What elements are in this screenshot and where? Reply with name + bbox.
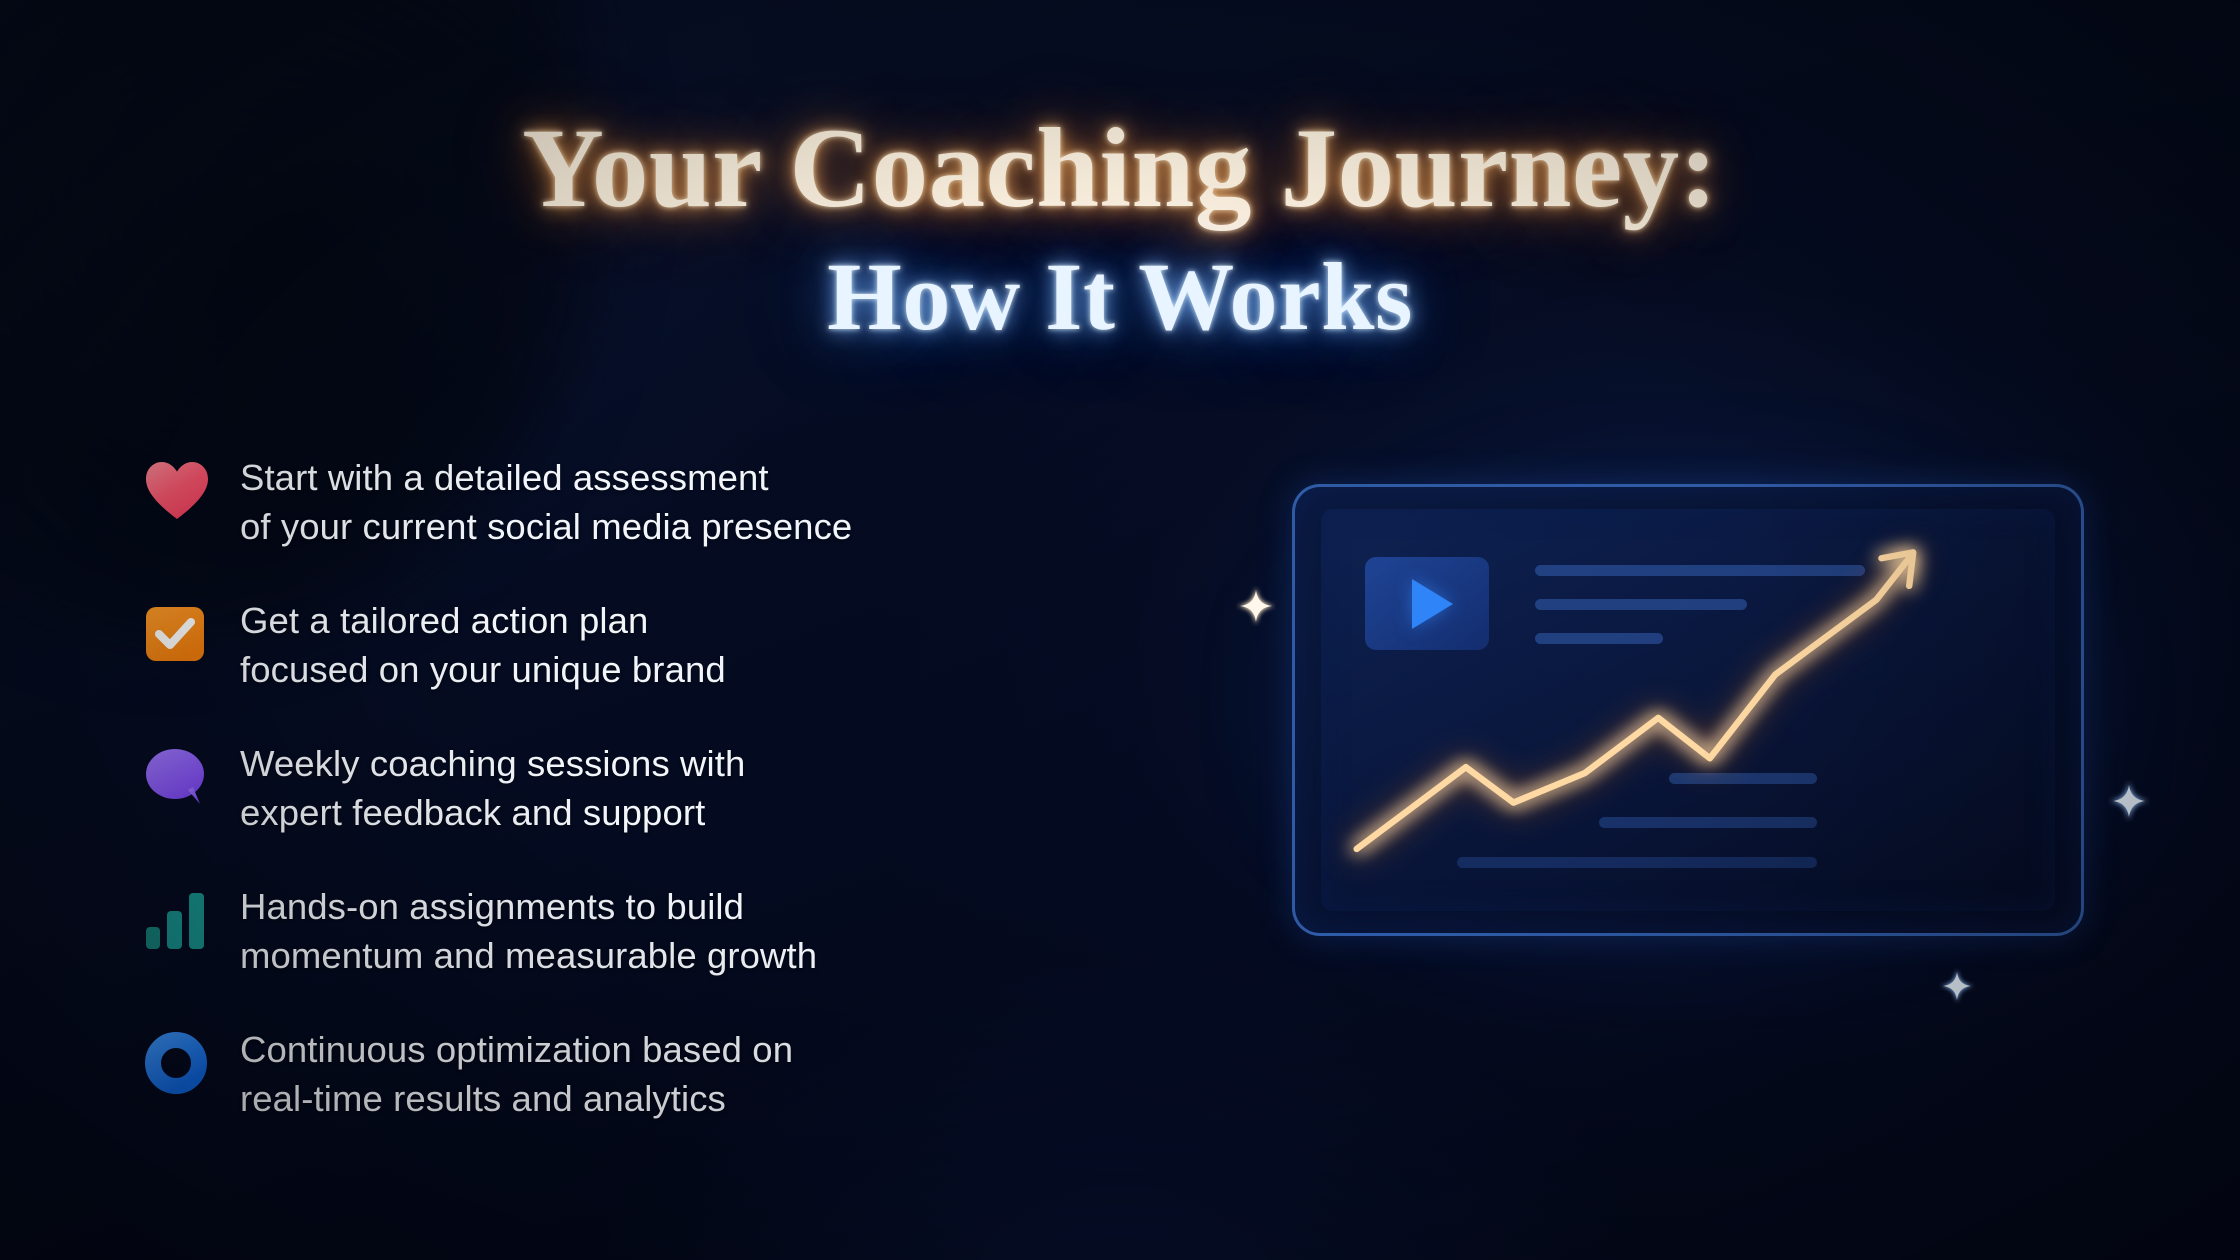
tablet-growth-chart-illustration (1292, 484, 2084, 936)
list-item[interactable]: Weekly coaching sessions with expert fee… (144, 738, 1164, 837)
list-item[interactable]: Continuous optimization based on real-ti… (144, 1024, 1164, 1123)
heart-icon (144, 452, 240, 528)
sparkle-blue-bottom (1939, 968, 1975, 1009)
bar-chart-icon (144, 881, 240, 957)
sparkle-warm-left (1236, 586, 1276, 631)
tablet-screen (1321, 509, 2055, 911)
list-item-line: Hands-on assignments to build (240, 883, 817, 932)
list-item-text: Start with a detailed assessment of your… (240, 452, 852, 551)
list-item-text: Continuous optimization based on real-ti… (240, 1024, 793, 1123)
speech-bubble-icon (144, 738, 240, 814)
list-item-text: Weekly coaching sessions with expert fee… (240, 738, 745, 837)
list-item-line: momentum and measurable growth (240, 932, 817, 981)
title-line-1: Your Coaching Journey: (0, 112, 2240, 225)
slide-canvas: Your Coaching Journey: How It Works (0, 0, 2240, 1260)
feature-list: Start with a detailed assessment of your… (144, 452, 1164, 1123)
list-item-line: Start with a detailed assessment (240, 454, 852, 503)
list-item-text: Get a tailored action plan focused on yo… (240, 595, 726, 694)
list-item-line: Weekly coaching sessions with (240, 740, 745, 789)
list-item-line: focused on your unique brand (240, 646, 726, 695)
tablet-frame (1292, 484, 2084, 936)
ring-icon (144, 1024, 240, 1100)
list-item-line: expert feedback and support (240, 789, 745, 838)
checkbox-checked-icon (144, 595, 240, 671)
list-item-text: Hands-on assignments to build momentum a… (240, 881, 817, 980)
list-item-line: Continuous optimization based on (240, 1026, 793, 1075)
list-item[interactable]: Get a tailored action plan focused on yo… (144, 595, 1164, 694)
list-item[interactable]: Hands-on assignments to build momentum a… (144, 881, 1164, 980)
list-item-line: of your current social media presence (240, 503, 852, 552)
growth-trend-line (1321, 509, 2055, 911)
list-item[interactable]: Start with a detailed assessment of your… (144, 452, 1164, 551)
list-item-line: real-time results and analytics (240, 1075, 793, 1124)
sparkle-blue-right (2108, 780, 2150, 827)
list-item-line: Get a tailored action plan (240, 597, 726, 646)
page-title: Your Coaching Journey: How It Works (0, 112, 2240, 345)
title-line-2: How It Works (0, 249, 2240, 345)
